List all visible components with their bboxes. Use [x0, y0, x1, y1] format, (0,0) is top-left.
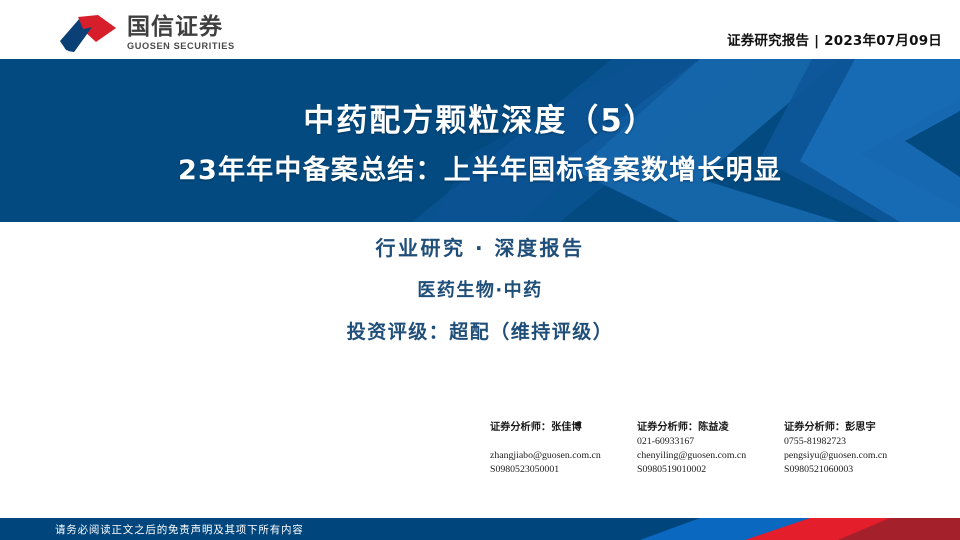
brand-name-cn: 国信证券	[127, 16, 235, 39]
analyst-name: 证券分析师：张佳博	[490, 421, 637, 435]
brand-logo: 国信证券 GUOSEN SECURITIES	[58, 13, 235, 55]
hero-banner: 中药配方颗粒深度（5） 23年年中备案总结：上半年国标备案数增长明显	[0, 59, 960, 222]
footer-disclaimer: 请务必阅读正文之后的免责声明及其项下所有内容	[55, 518, 304, 540]
guosen-logo-icon	[58, 14, 120, 54]
page-footer: 请务必阅读正文之后的免责声明及其项下所有内容	[0, 518, 960, 540]
hero-title-group: 中药配方颗粒深度（5） 23年年中备案总结：上半年国标备案数增长明显	[0, 59, 960, 222]
analyst-license: S0980521060003	[784, 463, 931, 477]
analyst-phone: 0755-81982723	[784, 435, 931, 449]
analyst-card: 证券分析师：陈益凌 021-60933167 chenyiling@guosen…	[637, 421, 784, 477]
report-title-subtitle: 23年年中备案总结：上半年国标备案数增长明显	[178, 148, 782, 187]
report-type-and-date: 证券研究报告 | 2023年07月09日	[727, 29, 942, 49]
sector-label: 医药生物·中药	[417, 276, 542, 302]
brand-name-en: GUOSEN SECURITIES	[127, 42, 235, 51]
page-header: 国信证券 GUOSEN SECURITIES 证券研究报告 | 2023年07月…	[0, 0, 960, 59]
report-title-main: 中药配方颗粒深度（5）	[303, 95, 657, 140]
analyst-name: 证券分析师：陈益凌	[637, 421, 784, 435]
brand-logo-text: 国信证券 GUOSEN SECURITIES	[127, 16, 235, 51]
analyst-card: 证券分析师：彭思宇 0755-81982723 pengsiyu@guosen.…	[784, 421, 931, 477]
analyst-email[interactable]: zhangjiabo@guosen.com.cn	[490, 449, 637, 463]
analyst-name: 证券分析师：彭思宇	[784, 421, 931, 435]
investment-rating-label: 投资评级：超配（维持评级）	[347, 317, 614, 344]
analyst-license: S0980523050001	[490, 463, 637, 477]
analyst-contact-group: 证券分析师：张佳博 zhangjiabo@guosen.com.cn S0980…	[490, 421, 950, 477]
analyst-card: 证券分析师：张佳博 zhangjiabo@guosen.com.cn S0980…	[490, 421, 637, 477]
analyst-license: S0980519010002	[637, 463, 784, 477]
analyst-email[interactable]: pengsiyu@guosen.com.cn	[784, 449, 931, 463]
industry-research-label: 行业研究 · 深度报告	[375, 232, 584, 261]
analyst-email[interactable]: chenyiling@guosen.com.cn	[637, 449, 784, 463]
analyst-phone: 021-60933167	[637, 435, 784, 449]
report-classification-group: 行业研究 · 深度报告 医药生物·中药 投资评级：超配（维持评级）	[0, 232, 960, 344]
